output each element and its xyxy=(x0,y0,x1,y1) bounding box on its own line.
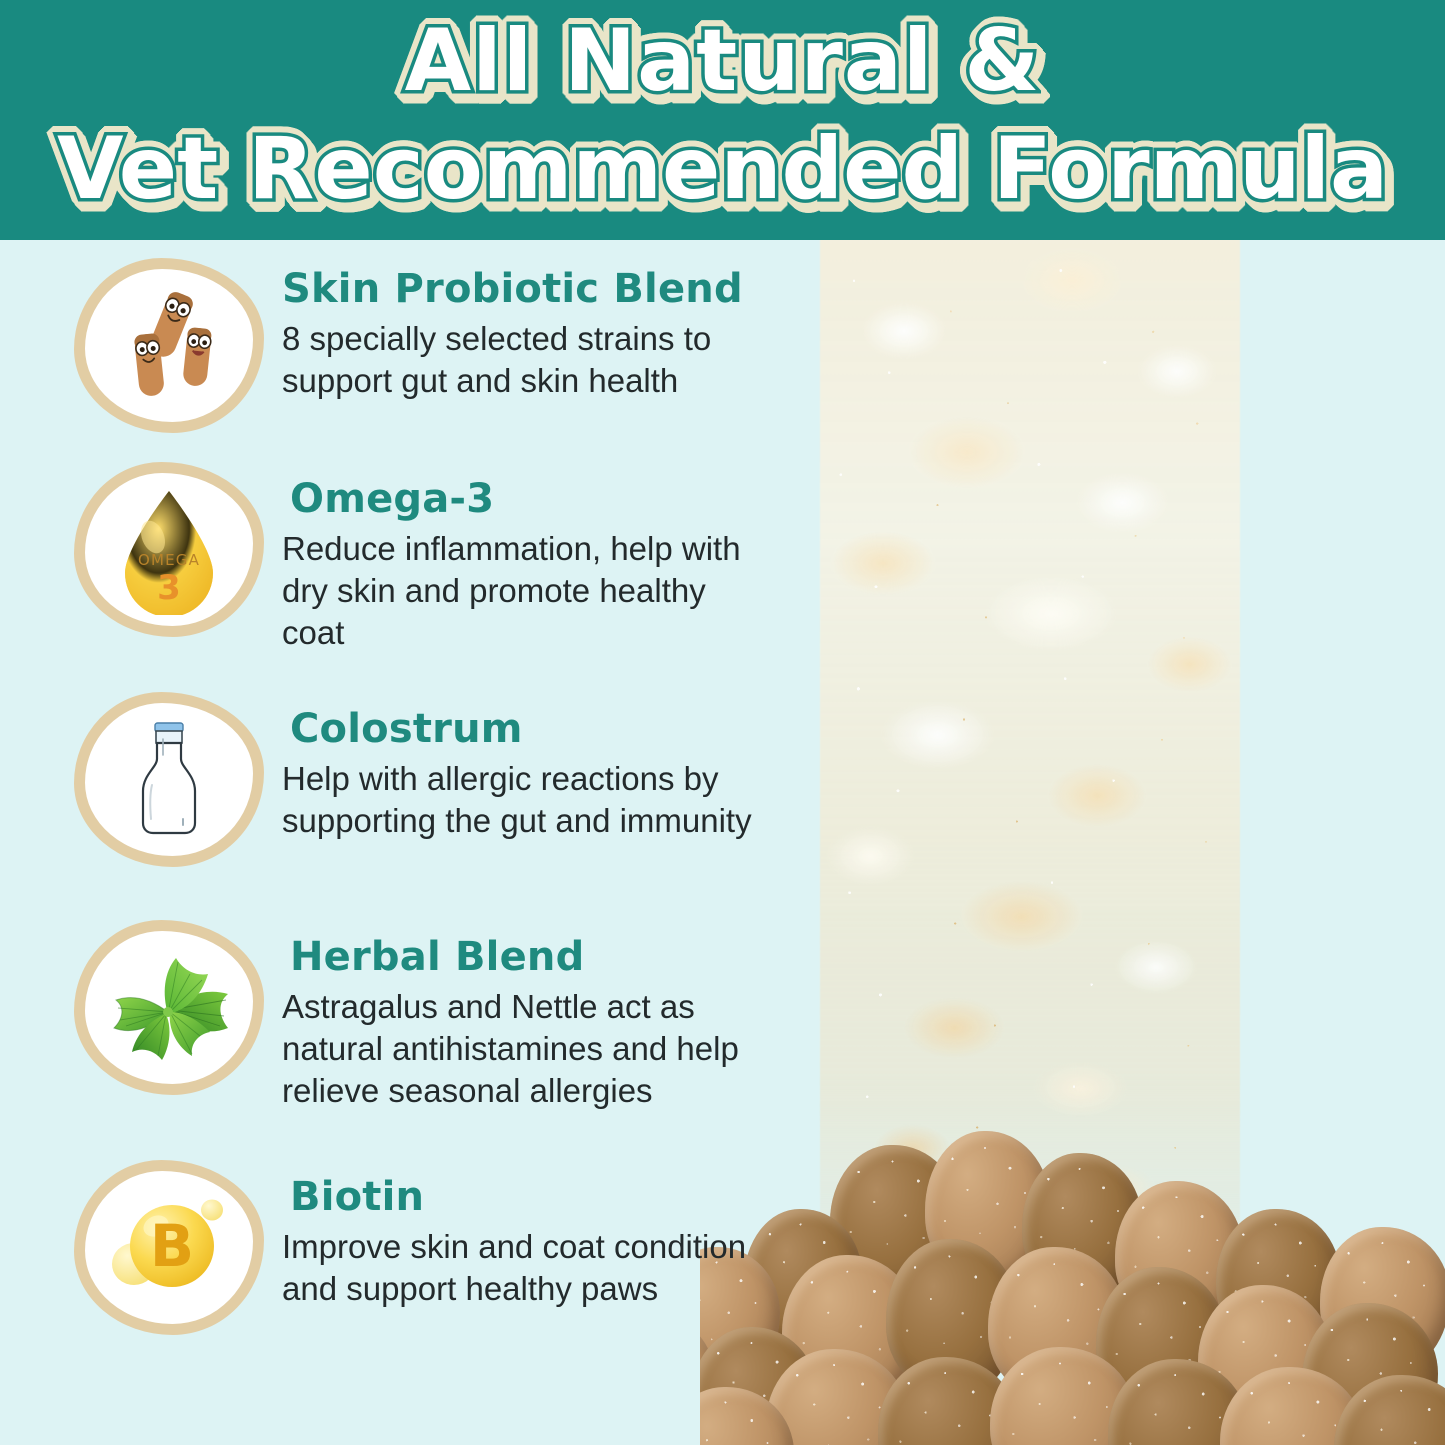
nettle-leaves-icon xyxy=(74,920,264,1095)
feature-description: Help with allergic reactions by supporti… xyxy=(282,758,752,842)
feature-icon-card xyxy=(74,258,264,433)
feature-description: Astragalus and Nettle act as natural ant… xyxy=(282,986,752,1112)
omega-3-droplet-icon: OMEGA 3 xyxy=(74,462,264,637)
feature-row: B Biotin Improve skin and coat condition… xyxy=(0,1160,800,1335)
feature-text: Omega-3 Reduce inflammation, help with d… xyxy=(264,462,800,654)
feature-row: Skin Probiotic Blend 8 specially selecte… xyxy=(0,258,800,433)
omega-number: 3 xyxy=(157,568,181,608)
ingredient-feature-list: Skin Probiotic Blend 8 specially selecte… xyxy=(0,240,800,1445)
feature-title: Skin Probiotic Blend xyxy=(282,266,800,312)
feature-text: Colostrum Help with allergic reactions b… xyxy=(264,692,800,842)
biotin-capsule-icon: B xyxy=(74,1160,264,1335)
milk-bottle-icon xyxy=(74,692,264,867)
feature-title: Biotin xyxy=(290,1174,800,1220)
feature-title: Herbal Blend xyxy=(290,934,800,980)
feature-icon-card xyxy=(74,692,264,867)
header-title-line-2: Vet Recommended Formula xyxy=(0,116,1445,222)
feature-text: Herbal Blend Astragalus and Nettle act a… xyxy=(264,920,800,1112)
feature-title: Omega-3 xyxy=(290,476,800,522)
feature-icon-card: B xyxy=(74,1160,264,1335)
product-photo xyxy=(700,240,1445,1445)
feature-description: Improve skin and coat condition and supp… xyxy=(282,1226,752,1310)
feature-text: Skin Probiotic Blend 8 specially selecte… xyxy=(264,258,800,402)
omega-label: OMEGA xyxy=(138,551,200,569)
header-title-line-1: All Natural & xyxy=(0,8,1445,114)
feature-description: 8 specially selected strains to support … xyxy=(282,318,752,402)
dog-treat-pile xyxy=(700,1135,1445,1445)
feature-row: Colostrum Help with allergic reactions b… xyxy=(0,692,800,867)
powder-speckles xyxy=(810,240,1250,1260)
feature-icon-card: OMEGA 3 xyxy=(74,462,264,637)
feature-icon-card xyxy=(74,920,264,1095)
feature-row: OMEGA 3 Omega-3 Reduce inflammation, hel… xyxy=(0,462,800,654)
infographic-page: All Natural & Vet Recommended Formula xyxy=(0,0,1445,1445)
feature-description: Reduce inflammation, help with dry skin … xyxy=(282,528,752,654)
feature-row: Herbal Blend Astragalus and Nettle act a… xyxy=(0,920,800,1112)
biotin-letter: B xyxy=(150,1212,194,1280)
feature-title: Colostrum xyxy=(290,706,800,752)
feature-text: Biotin Improve skin and coat condition a… xyxy=(264,1160,800,1310)
probiotic-bacteria-icon xyxy=(74,258,264,433)
header-banner: All Natural & Vet Recommended Formula xyxy=(0,0,1445,240)
